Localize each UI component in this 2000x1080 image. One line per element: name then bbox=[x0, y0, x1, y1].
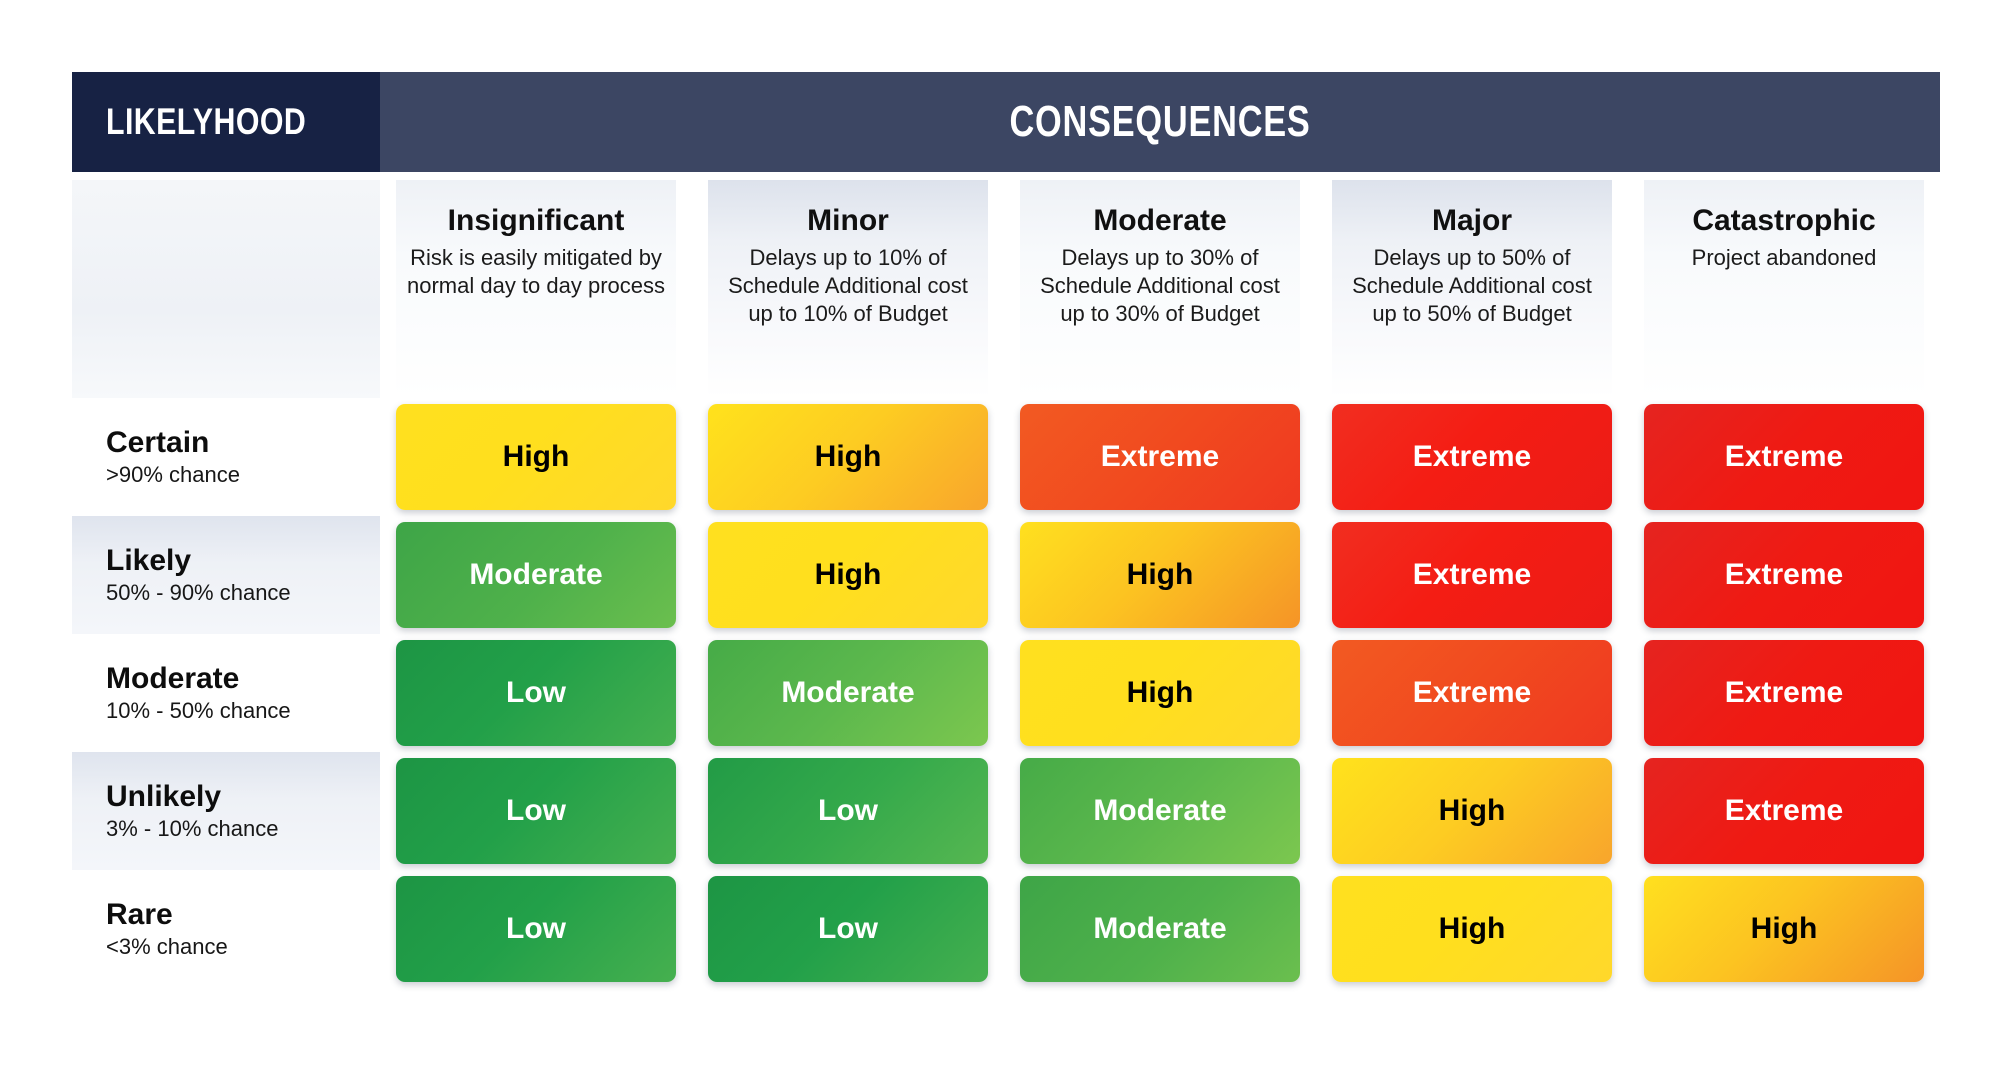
column-header-minor: Minor Delays up to 10% of Schedule Addit… bbox=[708, 180, 988, 398]
risk-cell-likely-minor[interactable]: High bbox=[708, 522, 988, 628]
risk-cell-certain-insignificant[interactable]: High bbox=[396, 404, 676, 510]
cell-slot: High bbox=[1316, 752, 1628, 870]
cell-slot: High bbox=[692, 398, 1004, 516]
risk-cell-rare-moderate[interactable]: Moderate bbox=[1020, 876, 1300, 982]
risk-cell-unlikely-catastrophic[interactable]: Extreme bbox=[1644, 758, 1924, 864]
cell-slot: High bbox=[380, 398, 692, 516]
cell-slot: Extreme bbox=[1316, 634, 1628, 752]
risk-cell-moderate-major[interactable]: Extreme bbox=[1332, 640, 1612, 746]
column-header-insignificant: Insignificant Risk is easily mitigated b… bbox=[396, 180, 676, 398]
column-title: Moderate bbox=[1093, 204, 1226, 238]
column-title: Major bbox=[1432, 204, 1512, 238]
row-title: Likely bbox=[106, 544, 380, 577]
row-subtitle: 10% - 50% chance bbox=[106, 699, 380, 723]
column-description: Delays up to 50% of Schedule Additional … bbox=[1342, 244, 1602, 328]
row-label-moderate: Moderate 10% - 50% chance bbox=[72, 634, 380, 752]
grid-corner-cell bbox=[72, 180, 380, 398]
risk-cell-rare-insignificant[interactable]: Low bbox=[396, 876, 676, 982]
column-description: Delays up to 30% of Schedule Additional … bbox=[1030, 244, 1290, 328]
row-title: Certain bbox=[106, 426, 380, 459]
column-description: Project abandoned bbox=[1692, 244, 1877, 272]
cell-slot: Extreme bbox=[1628, 752, 1940, 870]
row-subtitle: 3% - 10% chance bbox=[106, 817, 380, 841]
cell-slot: High bbox=[1004, 516, 1316, 634]
row-label-rare: Rare <3% chance bbox=[72, 870, 380, 988]
risk-cell-moderate-insignificant[interactable]: Low bbox=[396, 640, 676, 746]
consequences-header-cell: CONSEQUENCES bbox=[380, 72, 1940, 172]
column-title: Minor bbox=[807, 204, 889, 238]
cell-slot: Extreme bbox=[1628, 398, 1940, 516]
row-subtitle: <3% chance bbox=[106, 935, 380, 959]
risk-cell-likely-catastrophic[interactable]: Extreme bbox=[1644, 522, 1924, 628]
row-label-unlikely: Unlikely 3% - 10% chance bbox=[72, 752, 380, 870]
risk-cell-likely-moderate[interactable]: High bbox=[1020, 522, 1300, 628]
consequences-header-label: CONSEQUENCES bbox=[1009, 97, 1310, 147]
column-header-catastrophic: Catastrophic Project abandoned bbox=[1644, 180, 1924, 398]
risk-cell-rare-minor[interactable]: Low bbox=[708, 876, 988, 982]
cell-slot: High bbox=[692, 516, 1004, 634]
cell-slot: Extreme bbox=[1004, 398, 1316, 516]
cell-slot: Low bbox=[380, 752, 692, 870]
likelihood-header-label: LIKELYHOOD bbox=[106, 101, 306, 143]
matrix-grid: Insignificant Risk is easily mitigated b… bbox=[72, 172, 1940, 988]
risk-cell-unlikely-major[interactable]: High bbox=[1332, 758, 1612, 864]
cell-slot: Extreme bbox=[1316, 398, 1628, 516]
column-header-moderate: Moderate Delays up to 30% of Schedule Ad… bbox=[1020, 180, 1300, 398]
risk-cell-unlikely-moderate[interactable]: Moderate bbox=[1020, 758, 1300, 864]
row-subtitle: >90% chance bbox=[106, 463, 380, 487]
risk-cell-moderate-minor[interactable]: Moderate bbox=[708, 640, 988, 746]
risk-cell-certain-catastrophic[interactable]: Extreme bbox=[1644, 404, 1924, 510]
cell-slot: Moderate bbox=[1004, 752, 1316, 870]
cell-slot: High bbox=[1316, 870, 1628, 988]
risk-cell-moderate-moderate[interactable]: High bbox=[1020, 640, 1300, 746]
risk-cell-certain-minor[interactable]: High bbox=[708, 404, 988, 510]
row-title: Unlikely bbox=[106, 780, 380, 813]
cell-slot: Moderate bbox=[692, 634, 1004, 752]
cell-slot: High bbox=[1628, 870, 1940, 988]
risk-cell-moderate-catastrophic[interactable]: Extreme bbox=[1644, 640, 1924, 746]
risk-cell-unlikely-insignificant[interactable]: Low bbox=[396, 758, 676, 864]
risk-cell-certain-major[interactable]: Extreme bbox=[1332, 404, 1612, 510]
column-title: Insignificant bbox=[448, 204, 625, 238]
column-description: Delays up to 10% of Schedule Additional … bbox=[718, 244, 978, 328]
cell-slot: Extreme bbox=[1628, 516, 1940, 634]
risk-cell-likely-major[interactable]: Extreme bbox=[1332, 522, 1612, 628]
cell-slot: Low bbox=[380, 870, 692, 988]
risk-cell-rare-catastrophic[interactable]: High bbox=[1644, 876, 1924, 982]
cell-slot: High bbox=[1004, 634, 1316, 752]
cell-slot: Moderate bbox=[1004, 870, 1316, 988]
risk-cell-certain-moderate[interactable]: Extreme bbox=[1020, 404, 1300, 510]
row-title: Moderate bbox=[106, 662, 380, 695]
cell-slot: Moderate bbox=[380, 516, 692, 634]
cell-slot: Low bbox=[380, 634, 692, 752]
risk-matrix: LIKELYHOOD CONSEQUENCES Insignificant Ri… bbox=[0, 0, 2000, 1080]
row-label-certain: Certain >90% chance bbox=[72, 398, 380, 516]
risk-cell-likely-insignificant[interactable]: Moderate bbox=[396, 522, 676, 628]
matrix-header: LIKELYHOOD CONSEQUENCES bbox=[72, 72, 1940, 172]
column-description: Risk is easily mitigated by normal day t… bbox=[406, 244, 666, 300]
risk-cell-unlikely-minor[interactable]: Low bbox=[708, 758, 988, 864]
row-title: Rare bbox=[106, 898, 380, 931]
column-header-major: Major Delays up to 50% of Schedule Addit… bbox=[1332, 180, 1612, 398]
cell-slot: Extreme bbox=[1628, 634, 1940, 752]
row-label-likely: Likely 50% - 90% chance bbox=[72, 516, 380, 634]
row-subtitle: 50% - 90% chance bbox=[106, 581, 380, 605]
cell-slot: Low bbox=[692, 752, 1004, 870]
column-title: Catastrophic bbox=[1692, 204, 1875, 238]
risk-cell-rare-major[interactable]: High bbox=[1332, 876, 1612, 982]
likelihood-header-cell: LIKELYHOOD bbox=[72, 72, 380, 172]
cell-slot: Extreme bbox=[1316, 516, 1628, 634]
cell-slot: Low bbox=[692, 870, 1004, 988]
